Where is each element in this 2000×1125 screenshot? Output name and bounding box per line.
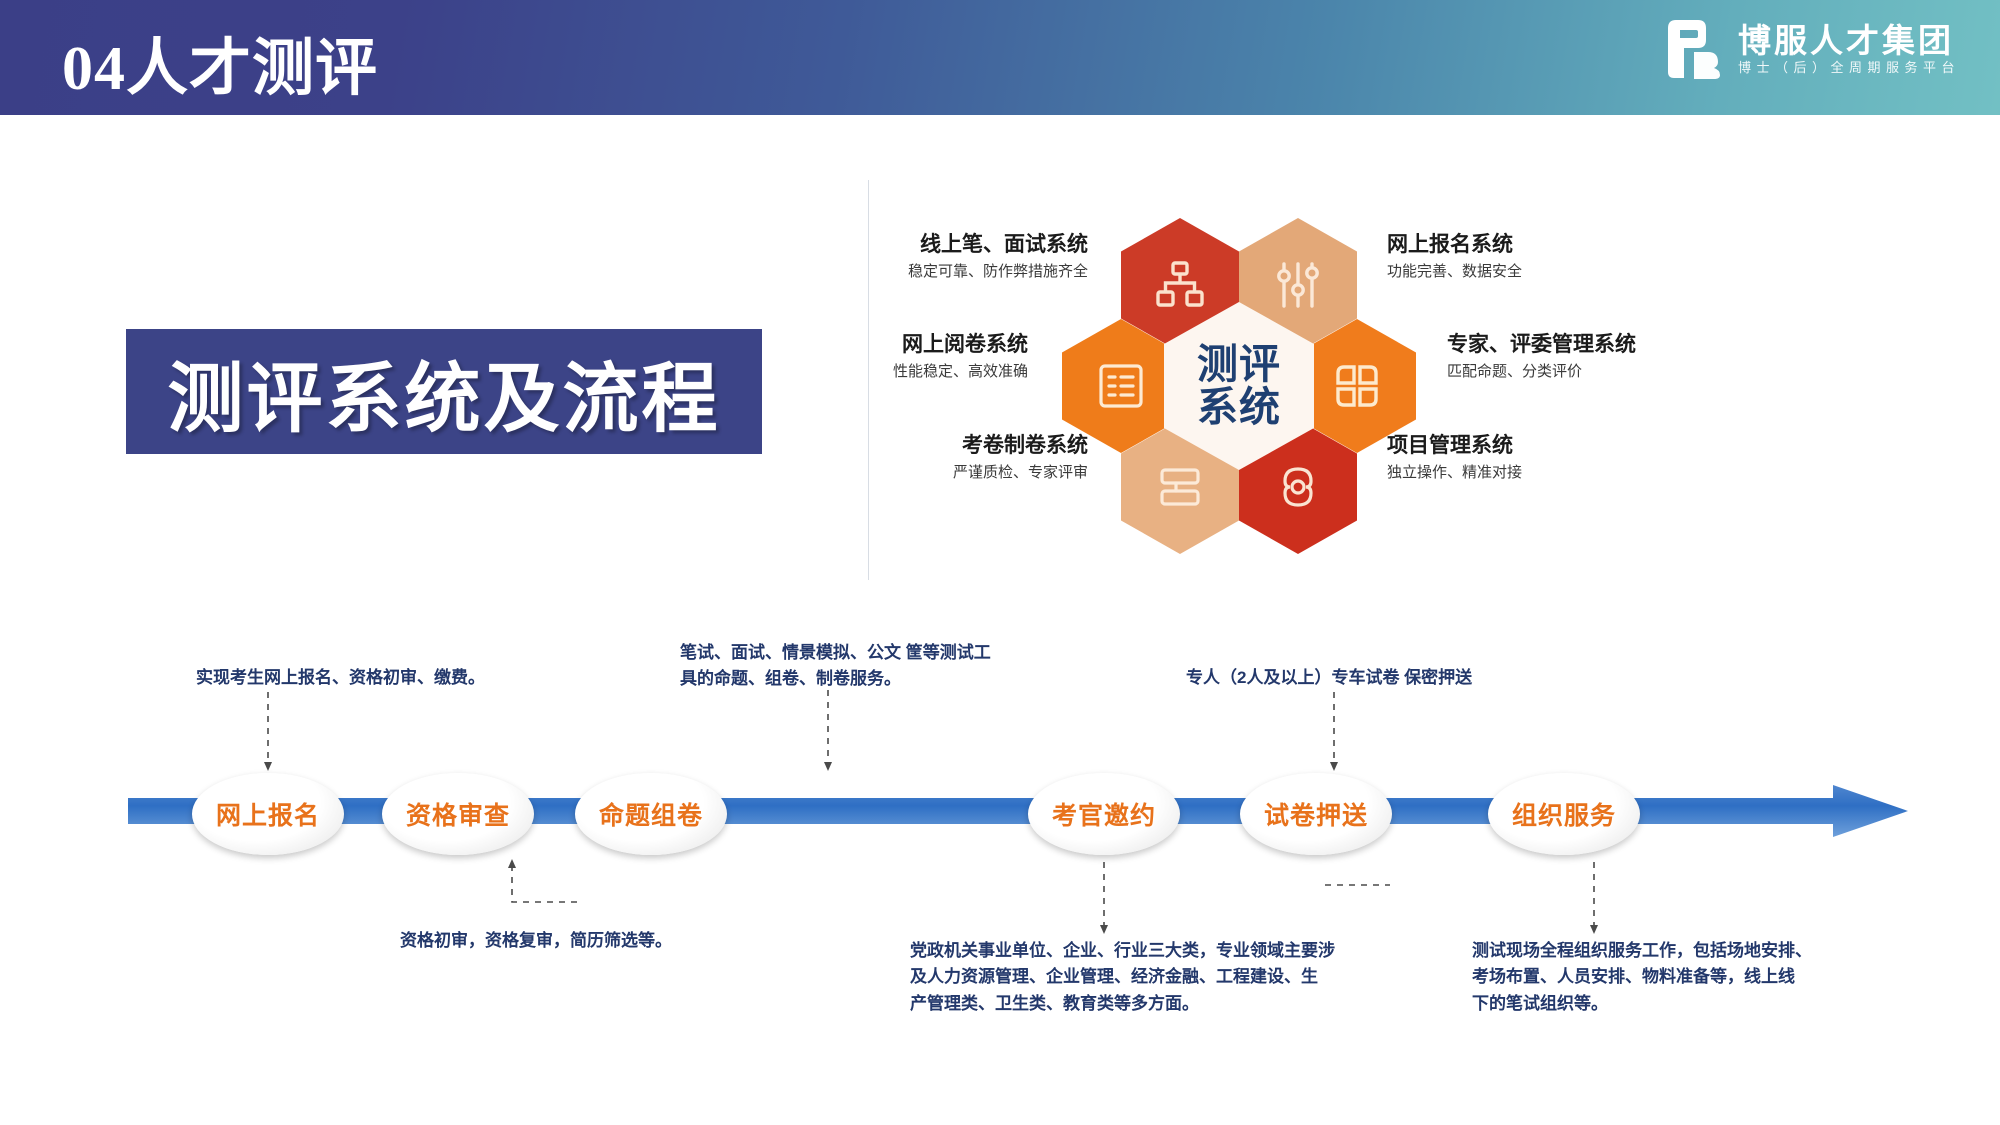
annotation-text-line1: 笔试、面试、情景模拟、公文 筐等测试工 <box>680 640 991 666</box>
timeline-node-label: 试卷押送 <box>1264 796 1368 832</box>
annotation-text: 实现考生网上报名、资格初审、缴费。 <box>196 668 485 687</box>
timeline-node-label: 资格审查 <box>406 796 510 832</box>
hex-label-project-management: 项目管理系统 独立操作、精准对接 <box>1387 433 1522 484</box>
hex-label-subtitle: 稳定可靠、防作弊措施齐全 <box>908 262 1088 282</box>
page-title: 测评系统及流程 <box>168 337 721 447</box>
list-server-icon <box>1095 360 1147 412</box>
annotation-above-3: 专人（2人及以上）专车试卷 保密押送 <box>1186 665 1472 691</box>
atom-icon <box>1272 461 1324 513</box>
annotation-text: 专人（2人及以上）专车试卷 保密押送 <box>1186 668 1472 687</box>
hex-label-subtitle: 功能完善、数据安全 <box>1387 262 1522 282</box>
logo-tagline: 博士（后）全周期服务平台 <box>1738 61 1960 74</box>
hex-label-subtitle: 独立操作、精准对接 <box>1387 463 1522 483</box>
hex-label-subtitle: 匹配命题、分类评价 <box>1447 362 1636 382</box>
hex-center-label: 测评 系统 <box>1197 343 1281 430</box>
hex-label-title: 项目管理系统 <box>1387 433 1522 459</box>
section-title: 04人才测评 <box>62 17 378 107</box>
annotation-above-2: 笔试、面试、情景模拟、公文 筐等测试工 具的命题、组卷、制卷服务。 <box>680 640 991 693</box>
page-title-box: 测评系统及流程 <box>126 329 762 454</box>
hex-label-subtitle: 性能稳定、高效准确 <box>893 362 1028 382</box>
hex-label-title: 专家、评委管理系统 <box>1447 332 1636 358</box>
timeline-node-label: 组织服务 <box>1512 796 1616 832</box>
annotation-text-line2: 考场布置、人员安排、物料准备等，线上线 <box>1472 964 1812 990</box>
annotation-text: 资格初审，资格复审，简历筛选等。 <box>400 931 672 950</box>
four-petals-icon <box>1331 360 1383 412</box>
hex-center-label-line2: 系统 <box>1197 386 1281 429</box>
annotation-text-line1: 测试现场全程组织服务工作，包括场地安排、 <box>1472 938 1812 964</box>
annotation-below-2: 党政机关事业单位、企业、行业三大类，专业领域主要涉 及人力资源管理、企业管理、经… <box>910 938 1335 1017</box>
annotation-text-line3: 产管理类、卫生类、教育类等多方面。 <box>910 991 1335 1017</box>
hex-label-title: 网上阅卷系统 <box>893 332 1028 358</box>
annotation-below-3: 测试现场全程组织服务工作，包括场地安排、 考场布置、人员安排、物料准备等，线上线… <box>1472 938 1812 1017</box>
hex-label-paper-production: 考卷制卷系统 严谨质检、专家评审 <box>953 433 1088 484</box>
annotation-text-line2: 及人力资源管理、企业管理、经济金融、工程建设、生 <box>910 964 1335 990</box>
timeline-node-label: 命题组卷 <box>599 796 703 832</box>
hex-label-title: 考卷制卷系统 <box>953 433 1088 459</box>
annotation-text-line2: 具的命题、组卷、制卷服务。 <box>680 666 991 692</box>
hex-label-title: 网上报名系统 <box>1387 232 1522 258</box>
annotation-above-1: 实现考生网上报名、资格初审、缴费。 <box>196 665 485 691</box>
hex-center-label-line1: 测评 <box>1197 343 1281 386</box>
annotation-below-1: 资格初审，资格复审，简历筛选等。 <box>400 928 672 954</box>
org-chart-icon <box>1154 259 1206 311</box>
hex-label-online-marking: 网上阅卷系统 性能稳定、高效准确 <box>893 332 1028 383</box>
hex-label-subtitle: 严谨质检、专家评审 <box>953 463 1088 483</box>
timeline-node-label: 网上报名 <box>216 796 320 832</box>
paper-stack-icon <box>1154 461 1206 513</box>
page-header: 04人才测评 博服人才集团 博士（后）全周期服务平台 <box>0 0 2000 115</box>
logo-company-name: 博服人才集团 <box>1738 24 1960 57</box>
hex-label-title: 线上笔、面试系统 <box>908 232 1088 258</box>
company-logo-icon <box>1664 18 1722 80</box>
annotation-text-line3: 下的笔试组织等。 <box>1472 991 1812 1017</box>
annotation-text-line1: 党政机关事业单位、企业、行业三大类，专业领域主要涉 <box>910 938 1335 964</box>
hex-label-online-exam: 线上笔、面试系统 稳定可靠、防作弊措施齐全 <box>908 232 1088 283</box>
assessment-system-diagram: 测评 系统 线上笔、面试系统 稳定可靠、防作弊措施齐全 网上报名系统 功能完善、… <box>868 180 1878 580</box>
hex-label-expert-management: 专家、评委管理系统 匹配命题、分类评价 <box>1447 332 1636 383</box>
sliders-icon <box>1272 259 1324 311</box>
brand-logo: 博服人才集团 博士（后）全周期服务平台 <box>1664 18 1960 80</box>
hex-label-online-registration: 网上报名系统 功能完善、数据安全 <box>1387 232 1522 283</box>
timeline-node-label: 考官邀约 <box>1052 796 1156 832</box>
